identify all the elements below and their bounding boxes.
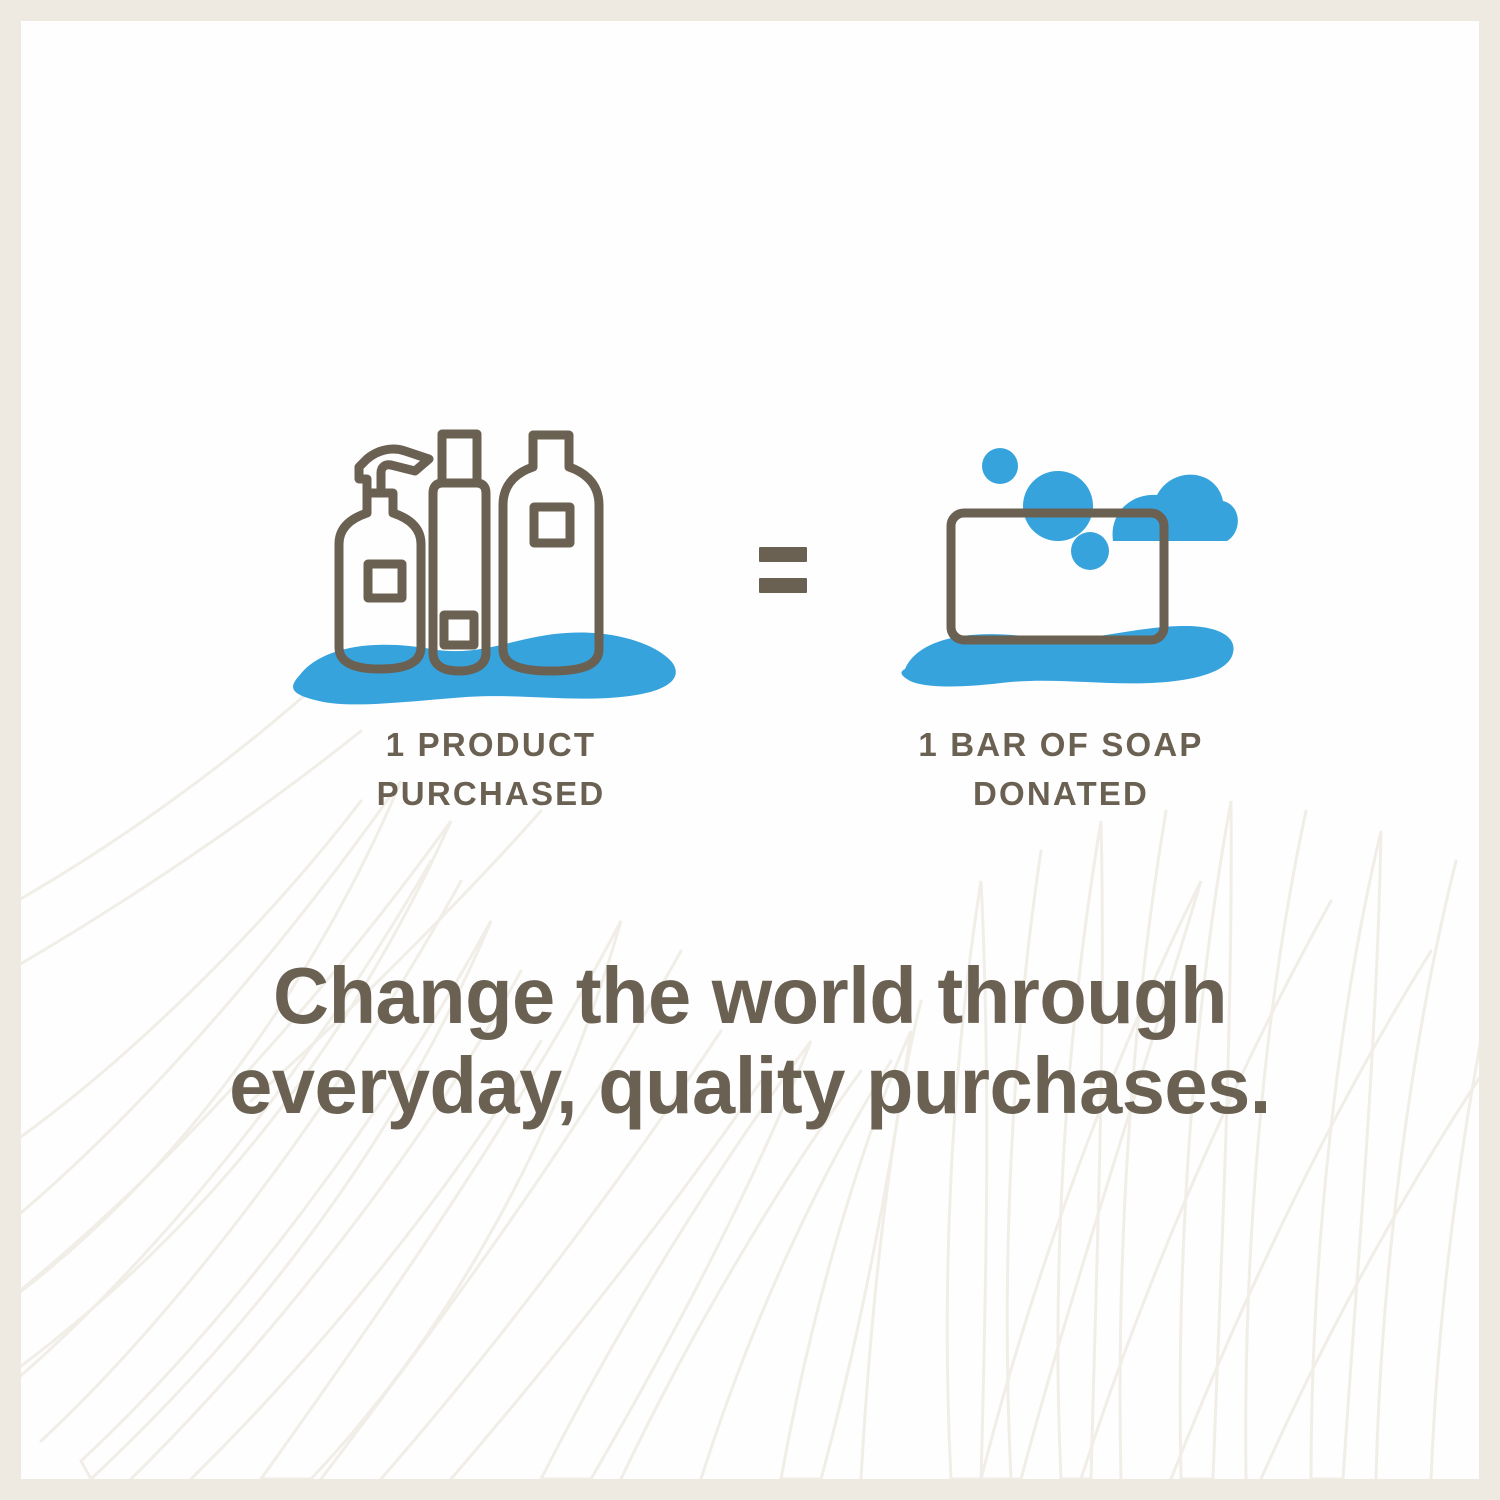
soap-foam-cloud bbox=[1113, 475, 1238, 541]
shoulder-bottle-label bbox=[534, 507, 570, 543]
cylinder-bottle-label bbox=[444, 615, 474, 645]
equals-sign bbox=[759, 539, 821, 601]
three-bottles-in-water-icon bbox=[281, 421, 701, 721]
equals-bar-bottom bbox=[759, 578, 807, 593]
bubble-medium bbox=[1071, 532, 1109, 570]
card-surface: 1 PRODUCT PURCHASED 1 BAR OF SOAP DONATE… bbox=[21, 21, 1479, 1479]
pump-bottle-nozzle bbox=[359, 449, 429, 493]
caption-right-line2: DONATED bbox=[973, 775, 1149, 812]
bottles-icon-panel bbox=[281, 421, 701, 721]
soap-icon-panel bbox=[881, 421, 1241, 721]
headline: Change the world through everyday, quali… bbox=[43, 951, 1457, 1130]
caption-product-purchased: 1 PRODUCT PURCHASED bbox=[251, 721, 731, 819]
caption-left-line2: PURCHASED bbox=[377, 775, 606, 812]
caption-left-line1: 1 PRODUCT bbox=[386, 726, 597, 763]
bubble-large bbox=[1023, 471, 1093, 541]
soap-bar-with-bubbles-icon bbox=[881, 421, 1241, 721]
pump-bottle-label bbox=[368, 564, 402, 598]
equals-bar-top bbox=[759, 547, 807, 562]
equation-row bbox=[21, 421, 1479, 721]
headline-line-1: Change the world through bbox=[43, 951, 1457, 1041]
bubble-tiny bbox=[982, 448, 1018, 484]
cylinder-bottle-cap bbox=[442, 434, 477, 483]
caption-right-line1: 1 BAR OF SOAP bbox=[918, 726, 1203, 763]
caption-soap-donated: 1 BAR OF SOAP DONATED bbox=[851, 721, 1271, 819]
pump-bottle-body bbox=[339, 493, 421, 669]
promo-graphic: 1 PRODUCT PURCHASED 1 BAR OF SOAP DONATE… bbox=[0, 0, 1500, 1500]
headline-line-2: everyday, quality purchases. bbox=[43, 1041, 1457, 1131]
